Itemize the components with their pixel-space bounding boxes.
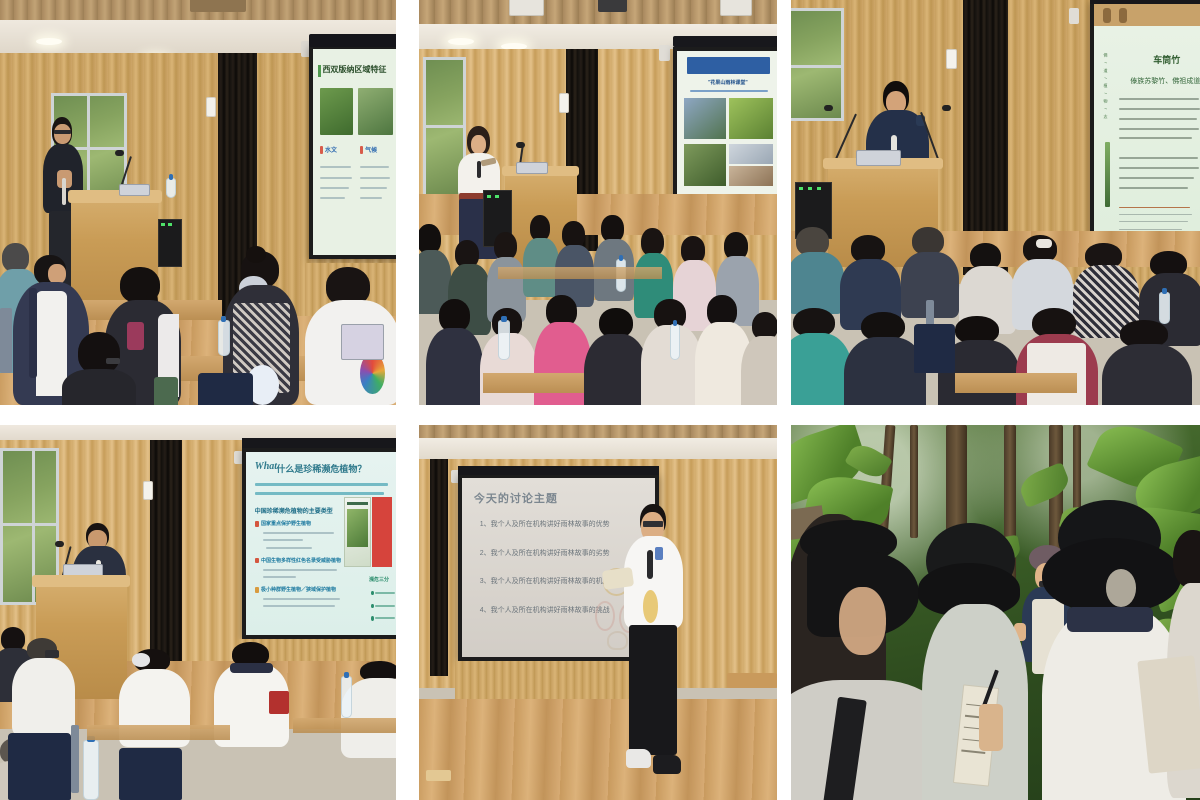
microphone-icon — [477, 161, 481, 178]
dark-slat-column — [430, 459, 448, 677]
chair[interactable] — [198, 373, 253, 405]
chair[interactable] — [119, 748, 182, 800]
projector-mount — [598, 0, 627, 12]
laptop-icon — [341, 324, 385, 360]
tote-bag-strap — [1137, 655, 1200, 773]
ceiling-vent — [509, 0, 545, 16]
photo-5-discussion-topics-speaker: Male speaker in a white T-shirt holding … — [419, 425, 777, 800]
chair-frame — [71, 725, 79, 793]
slide-1-section-2-heading: 气候 — [365, 145, 377, 154]
water-bottle-icon — [218, 320, 230, 356]
photo-2-lecture-hall-female-presenter: Female presenter in white blouse and nav… — [419, 0, 777, 405]
slide-4-right-heading: 濒危三分 — [369, 576, 389, 583]
rolled-paper-icon — [602, 567, 634, 590]
collar — [230, 663, 272, 673]
laptop-icon — [516, 162, 548, 174]
screen-roller-case — [309, 34, 396, 46]
eyeglasses-icon — [54, 130, 71, 134]
slide-1-title: 西双版纳区域特征 — [322, 64, 386, 75]
slide-photo-1 — [684, 98, 725, 139]
audience-member — [55, 332, 142, 405]
microphone-icon — [647, 550, 653, 580]
laptop-icon — [119, 184, 151, 196]
photo-cell-1: Male presenter in dark polo shirt standi… — [0, 0, 405, 415]
microphone-head-icon — [115, 150, 124, 156]
slide-5-title: 今天的讨论主题 — [474, 490, 558, 506]
eyeglasses-icon — [106, 358, 120, 364]
slide-title-accent — [318, 65, 321, 77]
trousers — [629, 625, 677, 755]
projection-screen-4: What 什么是珍稀濒危植物？ 中国珍稀濒危植物的主要类型 国家重点保护野生植物… — [242, 448, 396, 639]
slide-3-title: 车筒竹 — [1153, 53, 1180, 66]
photo-cell-2: Female presenter in white blouse and nav… — [405, 0, 784, 415]
screen-roller-case — [673, 36, 777, 47]
floor-vent — [426, 770, 451, 781]
slide-2-subtitle: "花果山雨林课堂" — [708, 79, 748, 86]
slide-image-2 — [358, 88, 393, 136]
photo-4-endangered-plants-lecture: Male presenter in dark polo at a wooden … — [0, 425, 396, 800]
slide-2-title-bar — [687, 57, 769, 74]
av-equipment-rack — [158, 219, 182, 268]
slide-marker-icon — [320, 146, 323, 154]
slide-5-bullet-2: 2、我个人及所在机构讲好雨林故事的劣势 — [480, 548, 610, 558]
english-caption-line — [1119, 207, 1190, 208]
photo-collage: Male presenter in dark polo shirt standi… — [0, 0, 1200, 800]
slide-4-book-spine — [372, 497, 392, 567]
floor — [419, 699, 777, 800]
photo-cell-6: Field trip group wearing wide-brim sun h… — [784, 415, 1200, 800]
hair-tie — [1036, 239, 1052, 248]
slide-3-bamboo-image — [1105, 142, 1110, 206]
screen-roller-case — [1090, 0, 1200, 4]
slide-4-bullet-2-label: 中国生物多样性红色名录受威胁植物 — [261, 557, 341, 564]
water-bottle-icon — [1159, 292, 1170, 324]
microphone-icon — [62, 178, 66, 204]
tshirt-logo — [655, 547, 663, 561]
projection-screen-2: "花果山雨林课堂" — [673, 47, 777, 213]
window — [791, 8, 844, 121]
slide-photo-4 — [729, 144, 773, 165]
slide-4-section-heading: 中国珍稀濒危植物的主要类型 — [255, 506, 333, 515]
tshirt-graphic — [643, 590, 658, 622]
projection-screen-1: 西双版纳区域特征 水文 气候 — [309, 45, 396, 260]
participant-with-bucket-hat — [922, 523, 1028, 800]
eyeglasses-icon — [45, 650, 59, 658]
microphone-head-icon — [824, 105, 833, 111]
screen-mount-bracket — [659, 45, 670, 61]
collar — [1067, 607, 1153, 632]
water-bottle-icon — [498, 320, 510, 361]
photo-cell-5: Male speaker in a white T-shirt holding … — [405, 415, 784, 800]
screen-mount-bracket — [1069, 8, 1079, 24]
screen-roller-case — [242, 438, 396, 448]
slide-marker-icon — [360, 146, 363, 154]
chair[interactable] — [914, 324, 955, 373]
desk-row — [483, 373, 583, 393]
slide-4-book-cover-image — [344, 497, 370, 567]
slide-photo-3 — [684, 144, 725, 187]
photo-1-lecture-hall-male-presenter: Male presenter in dark polo shirt standi… — [0, 0, 396, 405]
slide-4-bullet-1-label: 国家重点保护野生植物 — [261, 520, 311, 527]
light-switch[interactable] — [946, 49, 957, 69]
chair[interactable] — [8, 733, 71, 800]
light-switch[interactable] — [206, 97, 216, 117]
slide-3-subtitle: 傣族苏黎竹、佛祖成道 — [1130, 76, 1200, 86]
ceiling-vent — [190, 0, 245, 12]
desk-row — [955, 373, 1078, 393]
slide-4-title: 什么是珍稀濒危植物？ — [276, 462, 366, 475]
side-ledge — [727, 673, 777, 688]
ceiling-soffit — [419, 438, 777, 461]
red-cup-icon — [269, 691, 289, 714]
slide-4-bullet-3-label: 极小种群野生植物／狭域保护植物 — [261, 586, 336, 593]
desk-row — [498, 267, 663, 279]
light-switch[interactable] — [559, 93, 570, 113]
eyeglasses-icon — [643, 521, 663, 526]
slide-photo-5 — [729, 166, 773, 187]
hair-clip — [132, 653, 151, 666]
hand — [979, 704, 1002, 751]
photo-3-lecture-hall-podium-speaker: Male presenter in navy polo shirt speaki… — [791, 0, 1200, 405]
desk-row — [87, 725, 230, 740]
slide-photo-2 — [729, 98, 773, 139]
photo-6-rainforest-field-trip: Field trip group wearing wide-brim sun h… — [791, 425, 1200, 800]
ceiling-vent — [720, 0, 752, 16]
photo-cell-3: Male presenter in navy polo shirt speaki… — [784, 0, 1200, 415]
slide-4: What 什么是珍稀濒危植物？ 中国珍稀濒危植物的主要类型 国家重点保护野生植物… — [246, 452, 396, 635]
water-bottle-icon — [670, 324, 681, 360]
laptop-icon — [856, 150, 901, 166]
slide-1: 西双版纳区域特征 水文 气候 — [313, 49, 396, 256]
shoe — [626, 749, 650, 768]
water-bottle-icon — [166, 178, 176, 198]
screen-roller-case — [458, 466, 658, 475]
thermos-icon — [154, 377, 178, 405]
slide-3-sidebar-text: 佛 / 道 / 植 / 物 / 志 — [1103, 53, 1109, 137]
slide-4-title-script: What — [255, 461, 277, 472]
water-bottle-icon — [83, 740, 99, 800]
audience-block — [419, 203, 777, 406]
chair-frame — [0, 308, 12, 373]
microphone-head-icon — [516, 142, 525, 148]
light-switch[interactable] — [143, 481, 153, 500]
slide-5-bullet-1: 1、我个人及所在机构讲好雨林故事的优势 — [480, 519, 610, 529]
buddha-icon — [1119, 8, 1127, 23]
water-bottle-icon — [341, 676, 353, 717]
shoe — [653, 755, 680, 774]
slide-2: "花果山雨林课堂" — [677, 51, 777, 209]
photo-cell-4: Male presenter in dark polo at a wooden … — [0, 415, 405, 800]
slide-1-section-1-heading: 水文 — [325, 145, 337, 154]
presenter-male-4 — [619, 504, 687, 774]
slide-image-1 — [320, 88, 353, 136]
desk-row — [293, 718, 396, 733]
buddha-icon — [1103, 8, 1111, 23]
